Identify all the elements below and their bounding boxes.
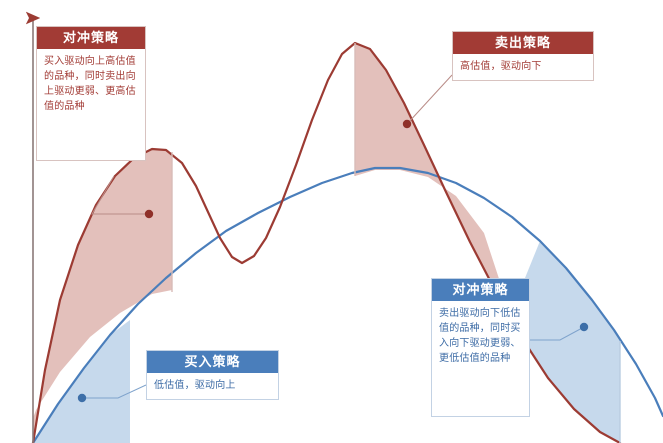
callout-hedge-bottom[interactable]: 对冲策略 卖出驱动向下低估值的品种，同时买入向下驱动更弱、更低估值的品种	[431, 278, 530, 417]
leader-sell	[407, 75, 452, 124]
callout-buy[interactable]: 买入策略 低估值，驱动向上	[146, 350, 279, 400]
buy-marker	[78, 394, 86, 402]
sell-marker	[403, 120, 411, 128]
callout-buy-title: 买入策略	[147, 351, 278, 373]
callout-hedge-bottom-title: 对冲策略	[432, 279, 529, 301]
callout-hedge-top[interactable]: 对冲策略 买入驱动向上高估值的品种，同时卖出向上驱动更弱、更高估值的品种	[36, 26, 146, 161]
hedge-top-marker	[145, 210, 153, 218]
callout-hedge-bottom-body: 卖出驱动向下低估值的品种，同时买入向下驱动更弱、更低估值的品种	[432, 301, 529, 416]
callout-sell[interactable]: 卖出策略 高估值，驱动向下	[452, 31, 594, 81]
hedge-bottom-marker	[580, 323, 588, 331]
callout-hedge-top-body: 买入驱动向上高估值的品种，同时卖出向上驱动更弱、更高估值的品种	[37, 49, 145, 160]
callout-hedge-top-title: 对冲策略	[37, 27, 145, 49]
callout-sell-body: 高估值，驱动向下	[453, 54, 593, 80]
callout-buy-body: 低估值，驱动向上	[147, 373, 278, 399]
callout-sell-title: 卖出策略	[453, 32, 593, 54]
chart-stage: 对冲策略 买入驱动向上高估值的品种，同时卖出向上驱动更弱、更高估值的品种 卖出策…	[0, 0, 663, 443]
